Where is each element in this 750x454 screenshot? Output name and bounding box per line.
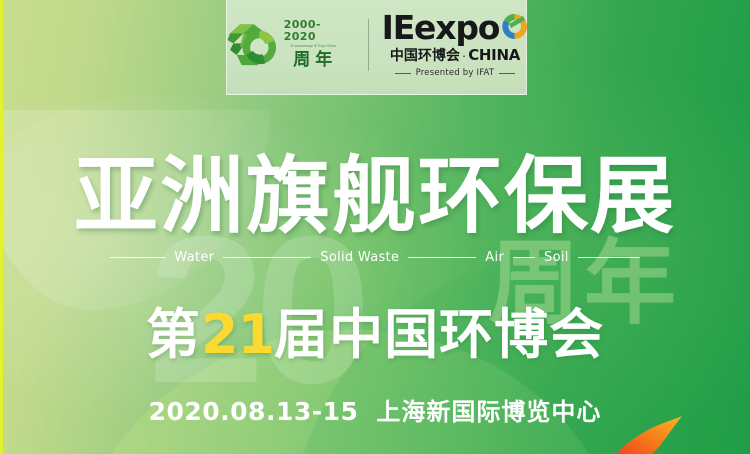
sub-headline-prefix: 第 xyxy=(146,305,201,365)
left-edge-accent xyxy=(0,0,3,454)
main-headline: 亚洲旗舰环保展 xyxy=(0,152,750,240)
event-venue: 上海新国际博览中心 xyxy=(376,399,601,426)
sub-headline: 第21届中国环博会 xyxy=(0,305,750,365)
topics-rule-1 xyxy=(223,257,311,258)
sub-headline-number: 21 xyxy=(201,303,274,366)
anniversary-text: 2000-2020 20 Anniversary IE Expo China 周… xyxy=(284,19,342,70)
topic-soil: Soil xyxy=(535,250,578,265)
sub-headline-suffix: 届中国环博会 xyxy=(274,305,604,365)
topics-rule-4 xyxy=(578,257,640,258)
logo-panel: 2000-2020 20 Anniversary IE Expo China 周… xyxy=(226,0,527,95)
logo-panel-inner: 2000-2020 20 Anniversary IE Expo China 周… xyxy=(225,12,528,78)
topics-rule-2 xyxy=(408,257,476,258)
presented-rule-left xyxy=(395,73,411,74)
topic-air: Air xyxy=(476,250,513,265)
poster-canvas: 20 周年 xyxy=(0,0,750,454)
footer-row: 2020.08.13-15上海新国际博览中心 xyxy=(0,392,750,427)
ieexpo-wordmark-row: IEexpo xyxy=(382,12,529,43)
ieexpo-presented-by: Presented by IFAT xyxy=(416,68,495,78)
ieexpo-chinese-name: 中国环博会 xyxy=(390,45,460,65)
anniversary-years: 2000-2020 xyxy=(284,19,342,43)
ieexpo-country: CHINA xyxy=(468,46,520,64)
logo-divider xyxy=(368,19,369,71)
anniversary-lockup: 2000-2020 20 Anniversary IE Expo China 周… xyxy=(225,17,355,73)
ieexpo-subtitle-row: 中国环博会 · CHINA xyxy=(390,45,520,65)
topic-solid-waste: Solid Waste xyxy=(311,250,408,265)
ieexpo-separator: · xyxy=(462,48,466,63)
topics-rule-0 xyxy=(110,257,165,258)
anniversary-tagline: 20 Anniversary IE Expo China xyxy=(290,45,335,49)
topics-rule-3 xyxy=(513,257,535,258)
presented-rule-right xyxy=(499,73,515,74)
anniversary-chinese: 周年 xyxy=(288,50,337,70)
ieexpo-presented-by-row: Presented by IFAT xyxy=(382,68,529,78)
ieexpo-wordmark: IEexpo xyxy=(382,12,500,43)
event-date: 2020.08.13-15 xyxy=(149,397,359,426)
ieexpo-circle-o-icon xyxy=(501,13,528,40)
topic-water: Water xyxy=(165,250,223,265)
topics-row: Water Solid Waste Air Soil xyxy=(0,250,750,265)
ieexpo-lockup: IEexpo 中国环博会 · CHINA Prese xyxy=(382,12,529,78)
anniversary-20-mark-icon xyxy=(225,17,277,73)
